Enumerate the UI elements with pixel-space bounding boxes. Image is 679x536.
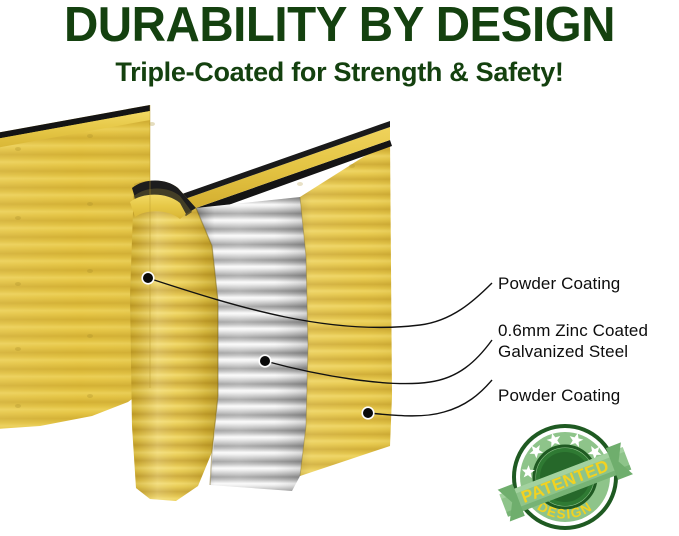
callout-dot-1 [143,273,153,283]
page-subtitle: Triple-Coated for Strength & Safety! [0,56,679,88]
header: DURABILITY BY DESIGN Triple-Coated for S… [0,0,679,96]
callout-label-powder-coating-top: Powder Coating [498,273,620,294]
callout-label-powder-coating-bottom: Powder Coating [498,385,620,406]
callout-dot-2 [260,356,270,366]
callout-label-galvanized-steel: 0.6mm Zinc Coated Galvanized Steel [498,320,648,362]
callout-label-line-1: 0.6mm Zinc Coated [498,320,648,341]
patented-design-badge: DESIGN PATENTED [497,424,633,531]
page-title: DURABILITY BY DESIGN [10,0,669,52]
callout-label-line-2: Galvanized Steel [498,341,648,362]
callout-dot-3 [363,408,373,418]
